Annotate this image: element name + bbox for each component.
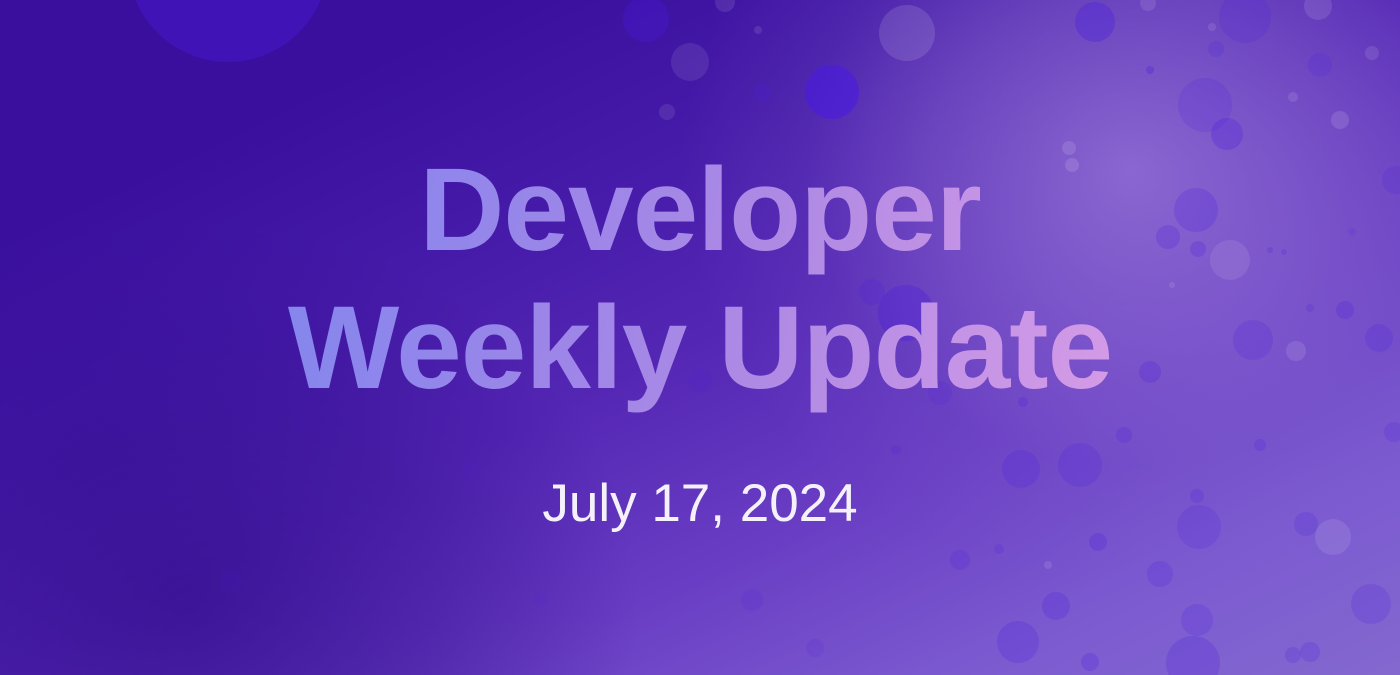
title-line-2: Weekly Update — [200, 279, 1200, 417]
slide-content: Developer Weekly Update July 17, 2024 — [0, 0, 1400, 675]
title-line-1: Developer — [200, 141, 1200, 279]
page-title: Developer Weekly Update — [200, 141, 1200, 417]
slide-date: July 17, 2024 — [542, 473, 857, 534]
slide-canvas: Developer Weekly Update July 17, 2024 — [0, 0, 1400, 675]
